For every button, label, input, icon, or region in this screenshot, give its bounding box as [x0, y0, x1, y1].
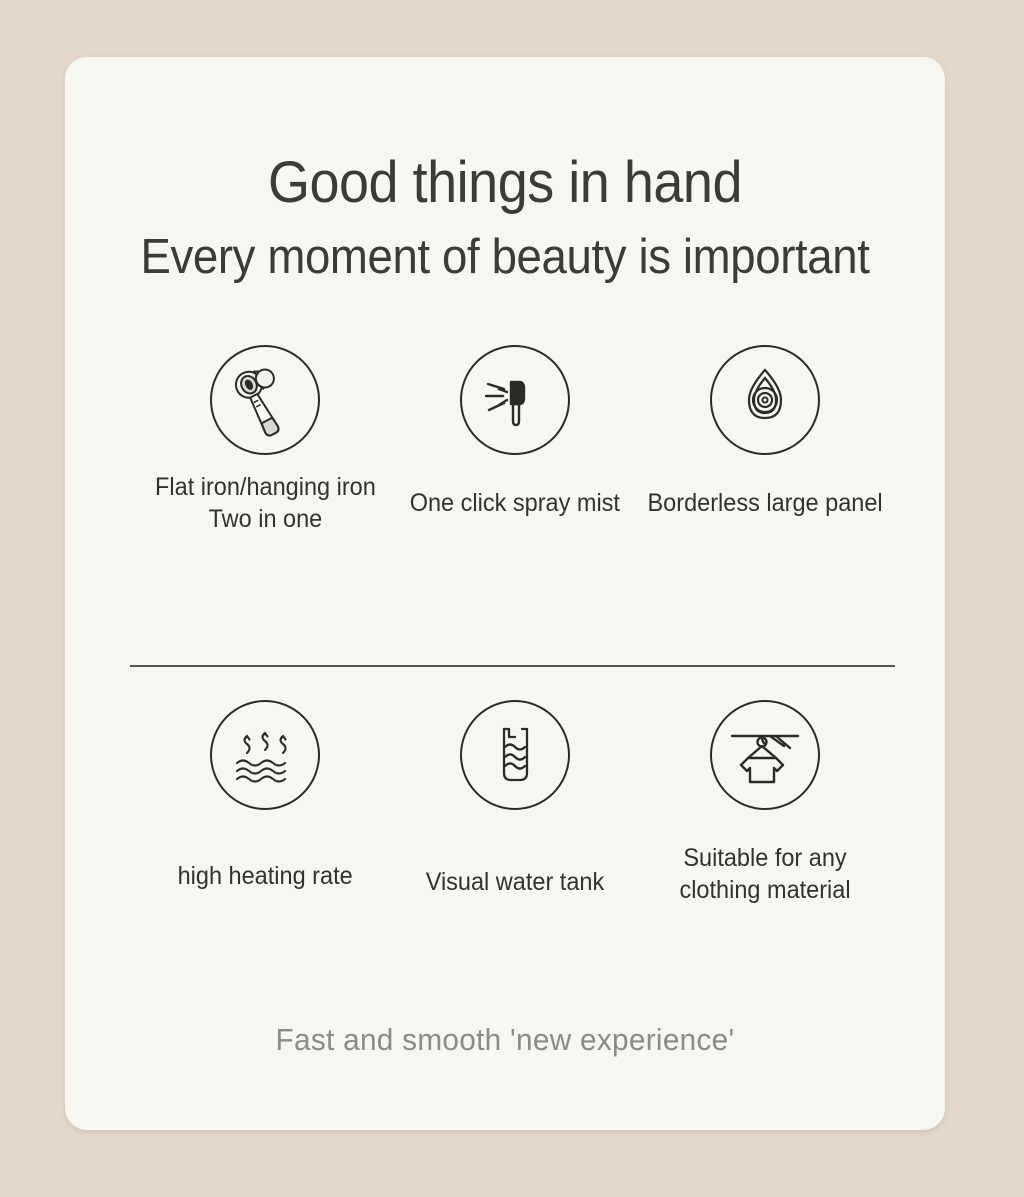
garment-steamer-icon — [210, 345, 320, 455]
footer-tagline: Fast and smooth 'new experience' — [83, 1022, 928, 1058]
caption-line-1: Borderless large panel — [647, 489, 882, 517]
caption-line-1: One click spray mist — [410, 489, 620, 517]
feature-item-borderless-panel[interactable]: Borderless large panel — [640, 345, 890, 535]
feature-item-flat-hanging-iron[interactable]: Flat iron/hanging iron Two in one — [140, 345, 390, 535]
shirt-on-hanger-icon — [710, 700, 820, 810]
feature-item-spray-mist[interactable]: One click spray mist — [390, 345, 640, 535]
feature-caption: high heating rate — [177, 860, 352, 892]
feature-item-visual-water-tank[interactable]: Visual water tank — [390, 700, 640, 906]
caption-line-2: Two in one — [155, 503, 376, 535]
spray-mist-icon — [460, 345, 570, 455]
feature-caption: Borderless large panel — [647, 487, 882, 519]
product-feature-page: Good things in hand Every moment of beau… — [0, 0, 1024, 1197]
page-subtitle: Every moment of beauty is important — [96, 228, 914, 286]
caption-line-1: Flat iron/hanging iron — [155, 473, 376, 501]
borderless-panel-icon — [710, 345, 820, 455]
steam-heating-icon — [210, 700, 320, 810]
heading-block: Good things in hand Every moment of beau… — [65, 152, 945, 286]
feature-caption: Visual water tank — [426, 866, 605, 898]
feature-caption: Suitable for any clothing material — [679, 842, 850, 906]
page-title: Good things in hand — [96, 152, 914, 214]
feature-caption: One click spray mist — [410, 487, 620, 519]
caption-line-1: Suitable for any — [683, 844, 846, 872]
feature-item-high-heating-rate[interactable]: high heating rate — [140, 700, 390, 906]
section-divider — [130, 665, 895, 667]
feature-caption: Flat iron/hanging iron Two in one — [155, 471, 376, 535]
feature-row-2: high heating rate — [65, 700, 945, 906]
caption-line-1: high heating rate — [177, 862, 352, 890]
caption-line-2: clothing material — [679, 874, 850, 906]
feature-row-1: Flat iron/hanging iron Two in one — [65, 345, 945, 535]
water-tank-icon — [460, 700, 570, 810]
feature-item-any-clothing-material[interactable]: Suitable for any clothing material — [640, 700, 890, 906]
caption-line-1: Visual water tank — [426, 868, 605, 896]
feature-card: Good things in hand Every moment of beau… — [65, 57, 945, 1130]
